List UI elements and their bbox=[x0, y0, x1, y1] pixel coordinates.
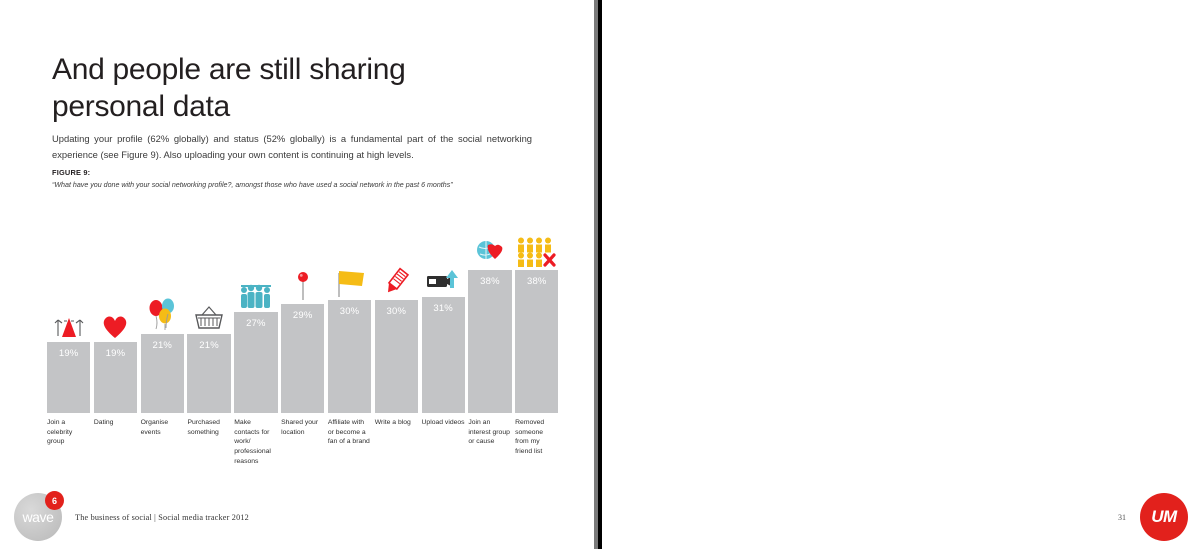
stage-icon bbox=[47, 301, 90, 342]
bar: 38% bbox=[515, 270, 558, 413]
bar-value-label: 30% bbox=[375, 306, 418, 317]
basket-icon bbox=[187, 293, 230, 334]
axis-label: Dating bbox=[94, 418, 137, 466]
balloons-icon bbox=[141, 293, 184, 334]
axis-label: Purchased something bbox=[187, 418, 230, 466]
bar-value-label: 27% bbox=[234, 318, 277, 329]
bar-group: 21% bbox=[141, 150, 184, 413]
bar-group: 27% bbox=[234, 150, 277, 413]
page-number: 31 bbox=[1118, 513, 1126, 522]
map-pin-icon bbox=[281, 263, 324, 304]
page-title: And people are still sharing personal da… bbox=[52, 52, 522, 125]
pencil-icon bbox=[375, 259, 418, 300]
bar-value-label: 19% bbox=[94, 348, 137, 359]
chart-left-axis-labels: Join a celebrity groupDatingOrganise eve… bbox=[47, 418, 562, 466]
bar-value-label: 31% bbox=[422, 303, 465, 314]
footer-left: wave 6 The business of social | Social m… bbox=[14, 493, 249, 541]
bar: 30% bbox=[328, 300, 371, 413]
axis-label: Upload videos bbox=[422, 418, 465, 466]
bar-group: 38% bbox=[515, 150, 558, 413]
bar-value-label: 21% bbox=[187, 340, 230, 351]
bar: 31% bbox=[422, 297, 465, 413]
axis-label: Removed someone from my friend list bbox=[515, 418, 558, 466]
bar: 21% bbox=[187, 334, 230, 413]
bar: 19% bbox=[47, 342, 90, 413]
bar: 21% bbox=[141, 334, 184, 413]
axis-label: Join a celebrity group bbox=[47, 418, 90, 466]
bar-value-label: 29% bbox=[281, 310, 324, 321]
axis-label: Organise events bbox=[141, 418, 184, 466]
footer-caption: The business of social | Social media tr… bbox=[75, 513, 249, 522]
bar-group: 19% bbox=[94, 150, 137, 413]
bar: 19% bbox=[94, 342, 137, 413]
remove-friend-icon bbox=[515, 229, 558, 270]
um-logo: UM bbox=[1140, 493, 1188, 541]
bar: 29% bbox=[281, 304, 324, 413]
bar-group: 29% bbox=[281, 150, 324, 413]
people-group-icon bbox=[234, 271, 277, 312]
wave-badge: 6 bbox=[45, 491, 64, 510]
video-upload-icon bbox=[422, 256, 465, 297]
chart-left: 19%19%21%21%27%29%30%30%31%38%38% bbox=[47, 150, 562, 413]
axis-label: Make contacts for work/ professional rea… bbox=[234, 418, 277, 466]
axis-label: Join an interest group or cause bbox=[468, 418, 511, 466]
bar: 30% bbox=[375, 300, 418, 413]
bar-value-label: 30% bbox=[328, 306, 371, 317]
flag-icon bbox=[328, 259, 371, 300]
bar-value-label: 19% bbox=[47, 348, 90, 359]
bar-group: 38% bbox=[468, 150, 511, 413]
bar-group: 31% bbox=[422, 150, 465, 413]
bar-value-label: 38% bbox=[468, 276, 511, 287]
axis-label: Write a blog bbox=[375, 418, 418, 466]
globe-heart-icon bbox=[468, 229, 511, 270]
left-page: And people are still sharing personal da… bbox=[0, 0, 595, 549]
heart-icon bbox=[94, 301, 137, 342]
footer-right: 31 UM bbox=[1118, 493, 1188, 541]
bar-value-label: 21% bbox=[141, 340, 184, 351]
bar-group: 19% bbox=[47, 150, 90, 413]
bar-group: 21% bbox=[187, 150, 230, 413]
bar-value-label: 38% bbox=[515, 276, 558, 287]
bar-group: 30% bbox=[328, 150, 371, 413]
bar: 27% bbox=[234, 312, 277, 413]
axis-label: Affiliate with or become a fan of a bran… bbox=[328, 418, 371, 466]
wave-logo: wave 6 bbox=[14, 493, 62, 541]
bar: 38% bbox=[468, 270, 511, 413]
bar-group: 30% bbox=[375, 150, 418, 413]
page-spine-divider bbox=[594, 0, 603, 549]
right-page: 43%44%44%47%47%49%52%59%59%62%64% Join a… bbox=[603, 0, 1200, 549]
axis-label: Shared your location bbox=[281, 418, 324, 466]
